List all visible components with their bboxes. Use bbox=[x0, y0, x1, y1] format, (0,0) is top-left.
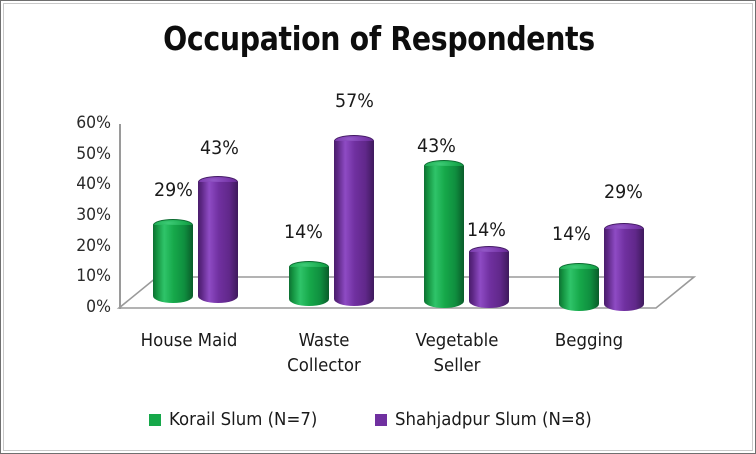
category-label-waste-collector: Waste Collector bbox=[250, 328, 397, 378]
bar-label-shahjadpur-waste-collector: 57% bbox=[335, 90, 374, 112]
category-label-line1: House Maid bbox=[115, 328, 262, 353]
bar-label-korail-vegetable-seller: 43% bbox=[417, 135, 456, 157]
category-label-line2: Seller bbox=[383, 353, 530, 378]
bar-body bbox=[604, 229, 644, 311]
bar-korail-vegetable-seller[interactable] bbox=[424, 160, 464, 308]
legend-item-shahjadpur[interactable]: Shahjadpur Slum (N=8) bbox=[375, 409, 609, 430]
bar-shahjadpur-waste-collector[interactable] bbox=[334, 135, 374, 306]
bar-korail-house-maid[interactable] bbox=[153, 219, 193, 303]
category-label-vegetable-seller: Vegetable Seller bbox=[383, 328, 530, 378]
bars-layer: 29% 43% 14% 57% 43% bbox=[1, 1, 756, 454]
category-label-house-maid: House Maid bbox=[115, 328, 262, 353]
category-label-begging: Begging bbox=[515, 328, 662, 353]
bar-label-shahjadpur-vegetable-seller: 14% bbox=[467, 219, 506, 241]
plot-area: 60% 50% 40% 30% 20% 10% 0% 29% bbox=[1, 1, 756, 454]
bar-body bbox=[153, 225, 193, 303]
legend-label-shahjadpur: Shahjadpur Slum (N=8) bbox=[395, 409, 592, 430]
bar-korail-waste-collector[interactable] bbox=[289, 261, 329, 306]
bar-label-shahjadpur-begging: 29% bbox=[604, 181, 643, 203]
bar-body bbox=[198, 182, 238, 303]
bar-shahjadpur-vegetable-seller[interactable] bbox=[469, 246, 509, 308]
bar-body bbox=[334, 141, 374, 306]
bar-label-korail-begging: 14% bbox=[552, 223, 591, 245]
bar-label-shahjadpur-house-maid: 43% bbox=[200, 137, 239, 159]
bar-shahjadpur-house-maid[interactable] bbox=[198, 176, 238, 303]
bar-shahjadpur-begging[interactable] bbox=[604, 223, 644, 311]
legend-item-korail[interactable]: Korail Slum (N=7) bbox=[149, 409, 330, 430]
bar-body bbox=[289, 267, 329, 306]
legend-swatch-green-icon bbox=[149, 414, 161, 426]
chart-legend: Korail Slum (N=7) Shahjadpur Slum (N=8) bbox=[1, 409, 756, 430]
bar-korail-begging[interactable] bbox=[559, 263, 599, 311]
category-label-line2: Collector bbox=[250, 353, 397, 378]
bar-body bbox=[559, 269, 599, 311]
bar-body bbox=[469, 252, 509, 308]
bar-label-korail-house-maid: 29% bbox=[154, 179, 193, 201]
category-label-line1: Vegetable bbox=[383, 328, 530, 353]
legend-label-korail: Korail Slum (N=7) bbox=[169, 409, 317, 430]
category-label-line1: Begging bbox=[515, 328, 662, 353]
legend-swatch-purple-icon bbox=[375, 414, 387, 426]
bar-label-korail-waste-collector: 14% bbox=[284, 221, 323, 243]
category-label-line1: Waste bbox=[250, 328, 397, 353]
chart-container: Occupation of Respondents 60% 50% 40% 30… bbox=[0, 0, 756, 454]
bar-body bbox=[424, 166, 464, 308]
